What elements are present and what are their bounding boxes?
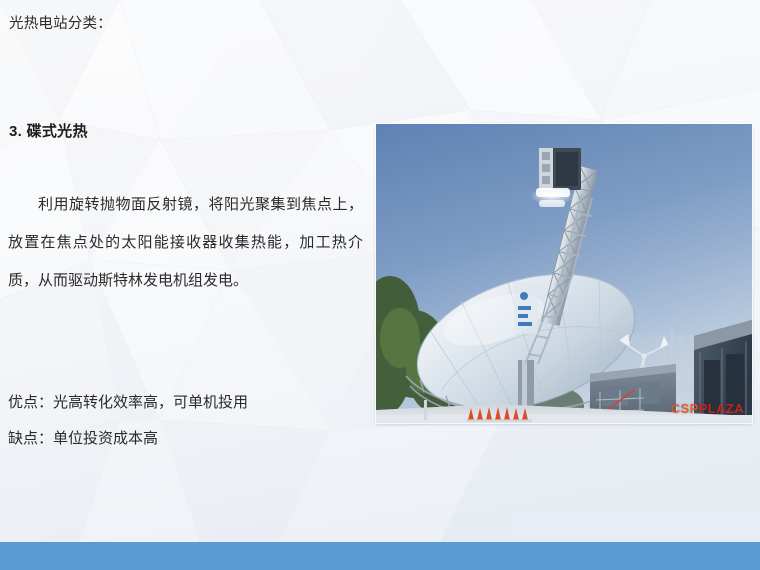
- advantage-line: 优点：光高转化效率高，可单机投用: [8, 385, 368, 421]
- disadvantage-line: 缺点：单位投资成本高: [8, 421, 368, 457]
- photo-illustration: [376, 124, 752, 423]
- watermark-csp-text: CSP: [671, 401, 699, 416]
- slide-text-column: 光热电站分类： 3. 碟式光热 利用旋转抛物面反射镜，将阳光聚集到焦点上，放置在…: [0, 0, 380, 542]
- dish-stirling-photo: CSPPLAZA: [376, 124, 752, 423]
- description-paragraph: 利用旋转抛物面反射镜，将阳光聚集到焦点上，放置在焦点处的太阳能接收器收集热能，加…: [8, 186, 363, 300]
- watermark-plaza-text: PLAZA: [699, 401, 744, 416]
- csp-plaza-watermark: CSPPLAZA: [671, 401, 744, 416]
- section-heading: 3. 碟式光热: [9, 121, 88, 142]
- page-title: 光热电站分类：: [9, 14, 112, 34]
- pros-cons-block: 优点：光高转化效率高，可单机投用 缺点：单位投资成本高: [8, 385, 368, 457]
- presentation-slide: 光热电站分类： 3. 碟式光热 利用旋转抛物面反射镜，将阳光聚集到焦点上，放置在…: [0, 0, 760, 570]
- bottom-accent-bar: [0, 542, 760, 570]
